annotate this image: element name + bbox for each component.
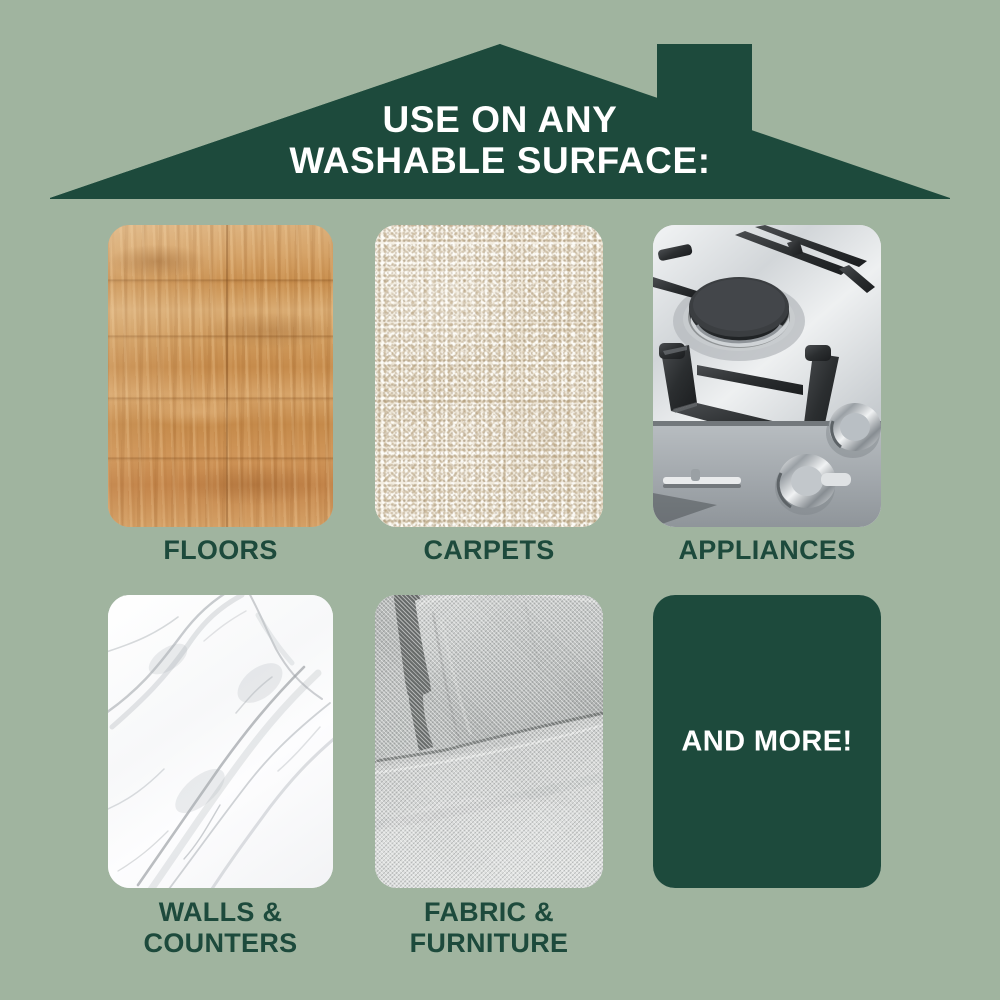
- carpets-image: [375, 225, 603, 527]
- and-more-label: AND MORE!: [653, 725, 881, 758]
- caption-line-1: WALLS &: [88, 897, 353, 928]
- stainless-steel-surface: [653, 225, 881, 527]
- caption-line-2: COUNTERS: [88, 928, 353, 959]
- weave-overlay: [375, 595, 603, 888]
- marble-veining: [108, 595, 333, 888]
- caption-floors: FLOORS: [88, 535, 353, 566]
- house-roof-banner: USE ON ANY WASHABLE SURFACE:: [0, 0, 1000, 200]
- caption-line-2: FURNITURE: [355, 928, 623, 959]
- infographic-canvas: USE ON ANY WASHABLE SURFACE: FLOORS CARP…: [0, 0, 1000, 1000]
- caption-appliances: APPLIANCES: [633, 535, 901, 566]
- caption-line-1: CARPETS: [355, 535, 623, 566]
- page-title: USE ON ANY WASHABLE SURFACE:: [0, 99, 1000, 181]
- title-line-2: WASHABLE SURFACE:: [0, 140, 1000, 181]
- caption-line-1: FLOORS: [88, 535, 353, 566]
- title-line-1: USE ON ANY: [0, 99, 1000, 140]
- surface-card-and-more[interactable]: AND MORE!: [653, 595, 881, 888]
- caption-fabric-furniture: FABRIC & FURNITURE: [355, 897, 623, 959]
- caption-carpets: CARPETS: [355, 535, 623, 566]
- and-more-panel: AND MORE!: [653, 595, 881, 888]
- walls-counters-image: [108, 595, 333, 888]
- surface-card-walls-counters[interactable]: WALLS & COUNTERS: [108, 595, 333, 888]
- surface-card-carpets[interactable]: CARPETS: [375, 225, 603, 527]
- surface-card-appliances[interactable]: APPLIANCES: [653, 225, 881, 527]
- appliances-image: [653, 225, 881, 527]
- caption-line-1: APPLIANCES: [633, 535, 901, 566]
- gas-cooktop-illustration: [653, 225, 881, 527]
- caption-walls-counters: WALLS & COUNTERS: [88, 897, 353, 959]
- surface-card-floors[interactable]: FLOORS: [108, 225, 333, 527]
- caption-line-1: FABRIC &: [355, 897, 623, 928]
- surface-card-fabric-furniture[interactable]: FABRIC & FURNITURE: [375, 595, 603, 888]
- white-marble-texture: [108, 595, 333, 888]
- plush-carpet-texture: [375, 225, 603, 527]
- wood-plank-floor-texture: [108, 225, 333, 527]
- fabric-furniture-image: [375, 595, 603, 888]
- floors-image: [108, 225, 333, 527]
